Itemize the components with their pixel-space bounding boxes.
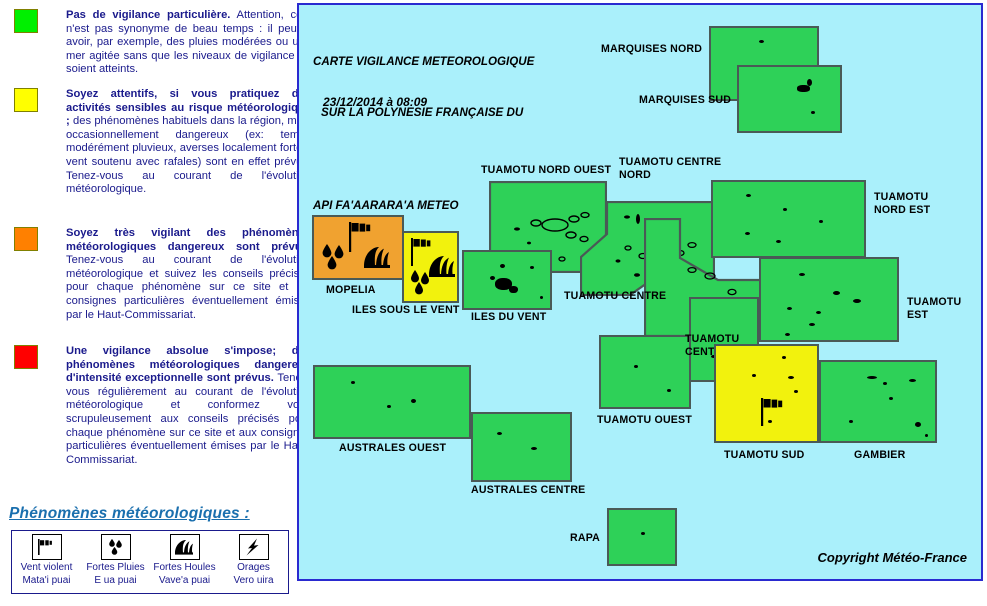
region-marquises-sud[interactable] (737, 65, 842, 133)
phenomena-label-ty: Vero uira (233, 575, 273, 588)
region-gambier[interactable] (819, 360, 937, 443)
legend-text-yellow: Soyez attentifs, si vous pratiquez des a… (66, 88, 311, 197)
legend-swatch-red (14, 345, 38, 369)
vigilance-page: Pas de vigilance particulière. Attention… (0, 0, 987, 606)
label-marquises-nord: MARQUISES NORD (601, 43, 702, 56)
legend-row-green: Pas de vigilance particulière. Attention… (14, 9, 311, 77)
label-australes-ouest: AUSTRALES OUEST (339, 442, 446, 455)
label-tuamotu-centre-nord: TUAMOTU CENTRE NORD (619, 156, 721, 181)
legend-rest-orange: Tenez-vous au courant de l'évolution mét… (66, 254, 311, 320)
phenomena-label-fr: Fortes Houles (153, 562, 215, 575)
phenomena-label-ty: E ua puai (94, 575, 136, 588)
legend-bold-green: Pas de vigilance particulière. (66, 9, 230, 21)
phenomena-item-wind: Vent violent Mata'i puai (12, 531, 81, 593)
lightning-icon (239, 534, 269, 560)
phenomena-label-fr: Fortes Pluies (86, 562, 144, 575)
region-iles-du-vent[interactable] (462, 250, 552, 310)
legend-text-green: Pas de vigilance particulière. Attention… (66, 9, 311, 77)
waves-icon (427, 253, 459, 279)
waves-icon (170, 534, 200, 560)
legend-rest-red: Tenez-vous régulièrement au courant de l… (66, 372, 311, 466)
label-australes-centre: AUSTRALES CENTRE (471, 484, 585, 497)
phenomena-item-waves: Fortes Houles Vave'a puai (150, 531, 219, 593)
legend-bold-orange: Soyez très vigilant des phénomènes météo… (66, 227, 311, 253)
legend-row-red: Une vigilance absolue s'impose; des phén… (14, 345, 311, 467)
region-rapa[interactable] (607, 508, 677, 566)
map-title-line1: CARTE VIGILANCE METEOROLOGIQUE (313, 53, 534, 70)
legend-swatch-orange (14, 227, 38, 251)
label-mopelia: MOPELIA (326, 284, 376, 297)
region-australes-centre[interactable] (471, 412, 572, 482)
label-tuamotu-est: TUAMOTU EST (907, 296, 961, 321)
region-tuamotu-sud[interactable] (714, 344, 819, 443)
legend-swatch-yellow (14, 88, 38, 112)
label-tuamotu-centre: TUAMOTU CENTRE (564, 290, 666, 303)
region-iles-sous-le-vent[interactable] (402, 231, 459, 303)
label-iles-sous-le-vent: ILES SOUS LE VENT (352, 304, 460, 317)
waves-icon (362, 244, 398, 270)
legend-text-red: Une vigilance absolue s'impose; des phén… (66, 345, 311, 467)
region-australes-ouest[interactable] (313, 365, 471, 439)
label-tuamotu-sud: TUAMOTU SUD (724, 449, 804, 462)
rain-icon (320, 243, 356, 271)
legend-rest-yellow: des phénomènes habituels dans la région,… (66, 115, 311, 195)
map-date: 23/12/2014 à 08:09 (323, 95, 427, 109)
region-mopelia[interactable] (312, 215, 404, 280)
legend-row-orange: Soyez très vigilant des phénomènes météo… (14, 227, 311, 322)
legend-swatch-green (14, 9, 38, 33)
copyright-text: Copyright Météo-France (817, 550, 967, 565)
label-tuamotu-nord-ouest: TUAMOTU NORD OUEST (481, 164, 611, 177)
region-tuamotu-est[interactable] (759, 257, 899, 342)
legend-row-yellow: Soyez attentifs, si vous pratiquez des a… (14, 88, 311, 197)
label-gambier: GAMBIER (854, 449, 905, 462)
legend-text-orange: Soyez très vigilant des phénomènes météo… (66, 227, 311, 322)
rain-icon (101, 534, 131, 560)
label-tuamotu-nord-est: TUAMOTU NORD EST (874, 191, 930, 216)
legend-column: Pas de vigilance particulière. Attention… (0, 0, 297, 606)
phenomena-label-ty: Mata'i puai (22, 575, 70, 588)
region-tuamotu-nord-est[interactable] (711, 180, 866, 258)
label-iles-du-vent: ILES DU VENT (471, 311, 546, 324)
phenomena-title: Phénomènes météorologiques : (9, 505, 289, 523)
phenomena-label-fr: Orages (237, 562, 270, 575)
wind-icon (758, 396, 792, 428)
phenomena-item-lightning: Orages Vero uira (219, 531, 288, 593)
region-tuamotu-ouest[interactable] (599, 335, 691, 409)
phenomena-item-rain: Fortes Pluies E ua puai (81, 531, 150, 593)
phenomena-legend-box: Vent violent Mata'i puai Fortes Pluies E… (11, 530, 289, 594)
phenomena-label-ty: Vave'a puai (159, 575, 210, 588)
label-marquises-sud: MARQUISES SUD (639, 94, 731, 107)
label-rapa: RAPA (570, 532, 600, 545)
label-tuamotu-ouest: TUAMOTU OUEST (597, 414, 692, 427)
phenomena-label-fr: Vent violent (21, 562, 73, 575)
vigilance-map-panel: CARTE VIGILANCE METEOROLOGIQUE SUR LA PO… (297, 3, 983, 581)
wind-icon (32, 534, 62, 560)
